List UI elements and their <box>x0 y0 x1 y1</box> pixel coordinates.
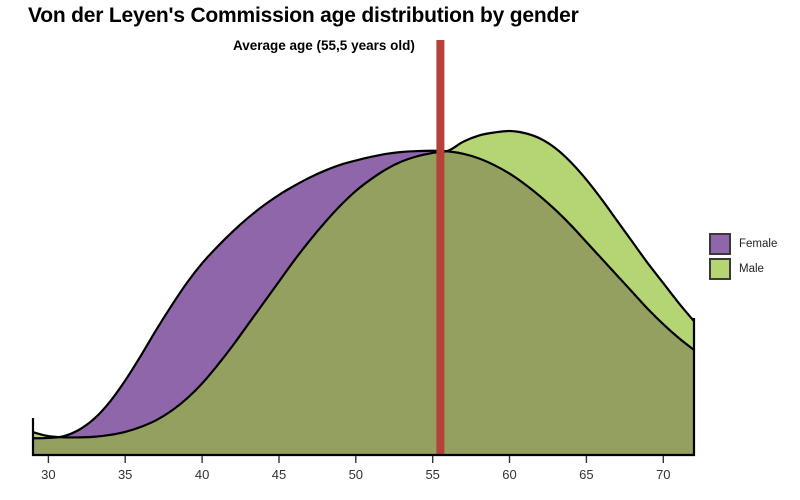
x-tick-label: 35 <box>118 467 132 482</box>
legend-swatch-female <box>709 233 731 255</box>
x-axis: 303540455055606570 <box>41 456 670 482</box>
legend-label-female: Female <box>739 238 777 250</box>
x-tick-label: 40 <box>195 467 209 482</box>
x-tick-label: 70 <box>656 467 670 482</box>
legend-label-male: Male <box>739 263 764 275</box>
legend: Female Male <box>709 232 795 282</box>
legend-item-male[interactable]: Male <box>709 257 795 281</box>
chart-container: Von der Leyen's Commission age distribut… <box>0 0 800 500</box>
x-tick-label: 50 <box>349 467 363 482</box>
legend-item-female[interactable]: Female <box>709 232 795 256</box>
legend-swatch-male <box>709 258 731 280</box>
x-tick-label: 55 <box>425 467 439 482</box>
x-tick-label: 60 <box>502 467 516 482</box>
x-tick-label: 45 <box>272 467 286 482</box>
x-tick-label: 30 <box>41 467 55 482</box>
density-plot: 303540455055606570 <box>0 0 800 500</box>
x-tick-label: 65 <box>579 467 593 482</box>
